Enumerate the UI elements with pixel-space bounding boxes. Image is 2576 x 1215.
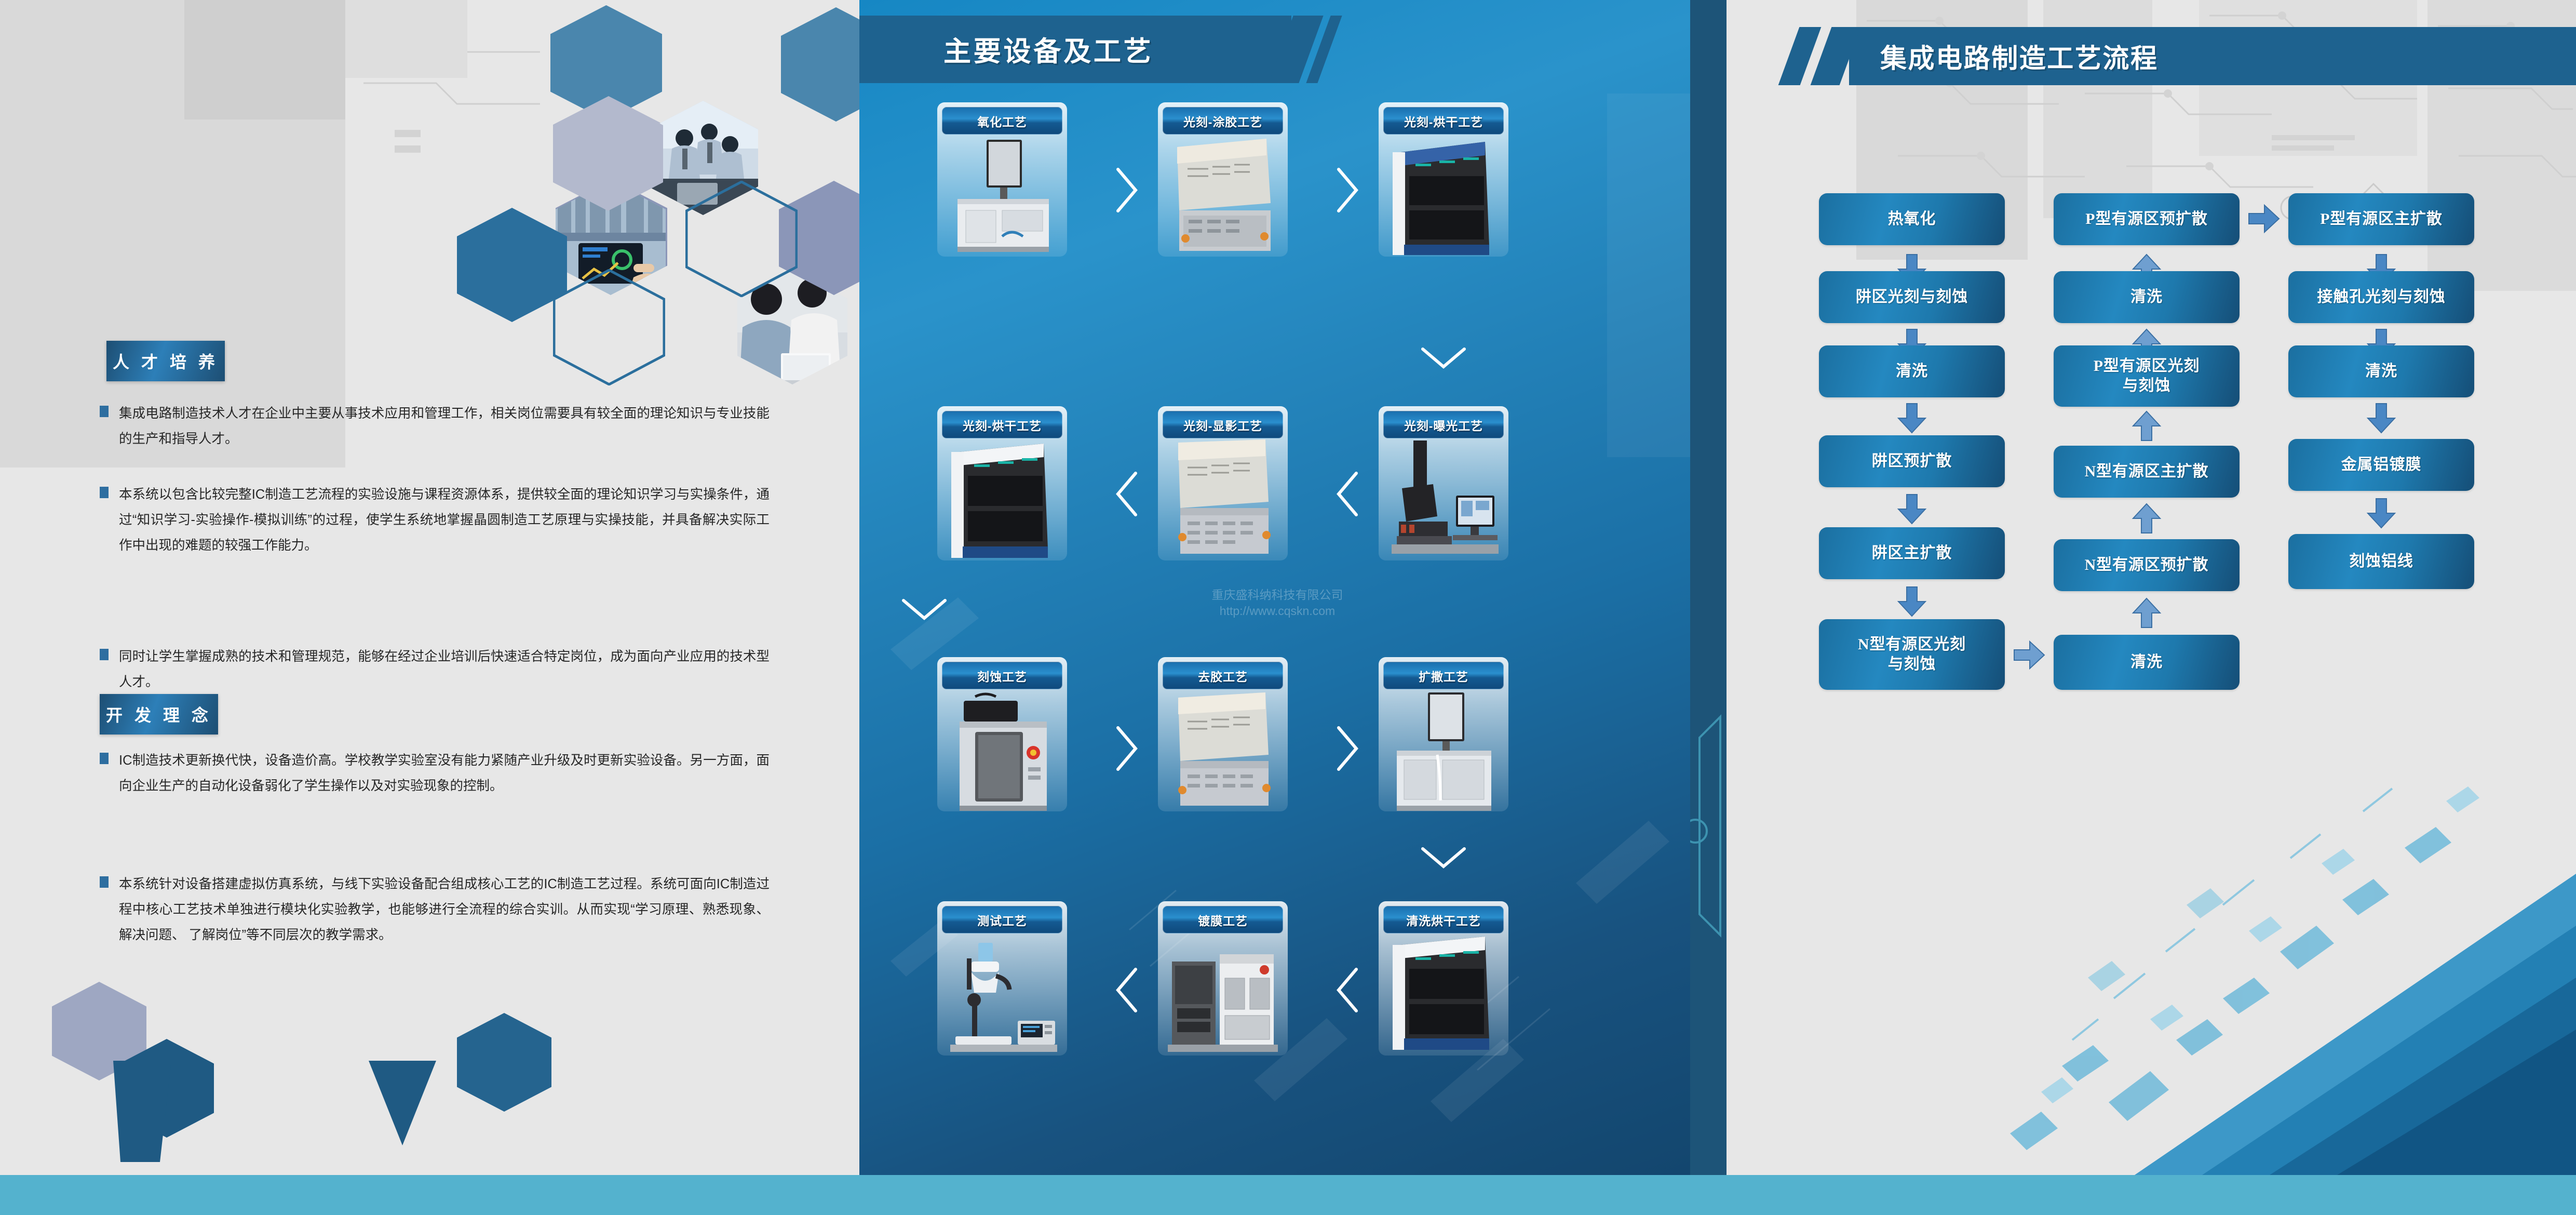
chevron-left-icon	[1115, 470, 1139, 518]
flow-box-label: N型有源区预扩散	[2085, 555, 2209, 575]
talent-paragraph-2: 本系统以包含比较完整IC制造工艺流程的实验设施与课程资源体系，提供较全面的理论知…	[100, 482, 770, 558]
equipment-photo-oxidation-furnace	[942, 135, 1062, 257]
chevron-down-icon	[900, 597, 948, 621]
arrow-down-icon	[2366, 403, 2396, 434]
flow-box-label: P型有源区光刻 与刻蚀	[2094, 356, 2200, 396]
equipment-photo-coater-hood	[1163, 135, 1283, 257]
talent-paragraph-3-text: 同时让学生掌握成熟的技术和管理规范，能够在经过企业培训后快速适合特定岗位，成为面…	[119, 644, 770, 695]
flow-box-label: N型有源区主扩散	[2085, 462, 2209, 482]
equipment-card-coating[interactable]: 光刻-涂胶工艺	[1158, 102, 1288, 257]
arrow-down-icon	[2366, 498, 2396, 529]
equipment-label: 氧化工艺	[942, 107, 1062, 135]
bullet-square-icon	[100, 753, 109, 764]
equipment-label: 去胶工艺	[1163, 662, 1283, 689]
hexagon-bottom-blue	[457, 1013, 551, 1112]
right-panel-title: 集成电路制造工艺流程	[1880, 37, 2159, 75]
equipment-label: 光刻-烘干工艺	[1383, 107, 1504, 135]
arrow-down-icon	[1897, 586, 1927, 617]
flow-box-label: 阱区预扩散	[1872, 451, 1952, 471]
talent-paragraph-1-text: 集成电路制造技术人才在企业中主要从事技术应用和管理工作，相关岗位需要具有较全面的…	[119, 401, 770, 452]
section-label-concept: 开 发 理 念	[100, 694, 218, 735]
concept-paragraph-2: 本系统针对设备搭建虚拟仿真系统，与线下实验设备配合组成核心工艺的IC制造工艺过程…	[100, 872, 770, 948]
chevron-left-icon	[1336, 470, 1359, 518]
equipment-label: 测试工艺	[942, 906, 1062, 933]
equipment-card-strip[interactable]: 去胶工艺	[1158, 657, 1288, 811]
chevron-down-icon	[1420, 846, 1467, 870]
flow-box-label: 刻蚀铝线	[2349, 552, 2413, 571]
equipment-label: 光刻-曝光工艺	[1383, 411, 1504, 438]
flow-box-col3-4[interactable]: 刻蚀铝线	[2288, 534, 2474, 589]
flow-box-col1-0[interactable]: 热氧化	[1819, 193, 2005, 245]
flow-box-label: 接触孔光刻与刻蚀	[2317, 287, 2445, 307]
chevron-left-icon	[1336, 966, 1359, 1014]
talent-paragraph-2-text: 本系统以包含比较完整IC制造工艺流程的实验设施与课程资源体系，提供较全面的理论知…	[119, 482, 770, 558]
equipment-photo-etcher	[942, 689, 1062, 811]
flow-box-col2-2[interactable]: P型有源区光刻 与刻蚀	[2054, 345, 2240, 407]
equipment-card-bake[interactable]: 光刻-烘干工艺	[1379, 102, 1508, 257]
hexagon-outline-1	[685, 181, 798, 297]
equipment-label: 光刻-涂胶工艺	[1163, 107, 1283, 135]
middle-panel-title: 主要设备及工艺	[943, 30, 1153, 69]
flow-box-label: 阱区主扩散	[1872, 543, 1952, 563]
equipment-photo-bake-oven-2	[942, 438, 1062, 560]
watermark-url: http://www.cqskn.com	[1148, 603, 1407, 619]
watermark: 重庆盛科纳科技有限公司 http://www.cqskn.com	[1148, 587, 1407, 619]
bullet-square-icon	[100, 649, 109, 660]
grey-accent-block-b	[184, 0, 345, 119]
chevron-right-icon	[1336, 166, 1359, 214]
flow-box-col2-5[interactable]: 清洗	[2054, 635, 2240, 690]
flow-box-col3-2[interactable]: 清洗	[2288, 345, 2474, 397]
section-label-talent: 人 才 培 养	[106, 341, 225, 381]
middle-panel: 主要设备及工艺 氧化工艺	[859, 0, 1690, 1175]
arrow-up-icon	[2132, 597, 2162, 629]
flow-box-col3-0[interactable]: P型有源区主扩散	[2288, 193, 2474, 245]
flow-box-col2-0[interactable]: P型有源区预扩散	[2054, 193, 2240, 245]
right-panel: 集成电路制造工艺流程	[1690, 0, 2576, 1175]
bullet-square-icon	[100, 876, 109, 888]
flow-box-col1-5[interactable]: N型有源区光刻 与刻蚀	[1819, 619, 2005, 690]
flow-box-col1-4[interactable]: 阱区主扩散	[1819, 527, 2005, 579]
talent-paragraph-3: 同时让学生掌握成熟的技术和管理规范，能够在经过企业培训后快速适合特定岗位，成为面…	[100, 644, 770, 695]
hexagon-outline-3	[748, 0, 859, 116]
flow-box-col3-3[interactable]: 金属铝镀膜	[2288, 439, 2474, 491]
flow-box-col2-4[interactable]: N型有源区预扩散	[2054, 539, 2240, 591]
flow-box-label: N型有源区光刻 与刻蚀	[1858, 635, 1966, 674]
flow-box-col1-3[interactable]: 阱区预扩散	[1819, 435, 2005, 487]
flow-box-label: P型有源区预扩散	[2085, 209, 2208, 229]
grey-accent-block-c	[345, 0, 467, 78]
flow-box-label: 清洗	[2365, 362, 2397, 381]
arrow-down-icon	[1897, 403, 1927, 434]
equipment-card-exposure[interactable]: 光刻-曝光工艺	[1379, 406, 1508, 560]
equipment-photo-sputter-coater	[1163, 933, 1283, 1056]
equipment-card-etch[interactable]: 刻蚀工艺	[937, 657, 1067, 811]
flow-box-label: 热氧化	[1888, 209, 1936, 229]
hexagon-outline-2	[553, 269, 665, 385]
flow-box-label: 金属铝镀膜	[2341, 455, 2422, 475]
bullet-square-icon	[100, 487, 109, 498]
left-panel: 人 才 培 养 集成电路制造技术人才在企业中主要从事技术应用和管理工作，相关岗位…	[0, 0, 859, 1175]
chevron-down-icon	[1420, 346, 1467, 370]
section-label-talent-text: 人 才 培 养	[113, 349, 219, 373]
equipment-label: 光刻-显影工艺	[1163, 411, 1283, 438]
equipment-photo-develop-hood	[1163, 438, 1283, 560]
watermark-company: 重庆盛科纳科技有限公司	[1148, 587, 1407, 603]
concept-paragraph-1: IC制造技术更新换代快，设备造价高。学校教学实验室没有能力紧随产业升级及时更新实…	[100, 748, 770, 799]
flow-box-label: 阱区光刻与刻蚀	[1856, 287, 1968, 307]
bottom-accent-bar	[0, 1175, 2576, 1215]
equipment-card-clean-dry[interactable]: 清洗烘干工艺	[1379, 901, 1508, 1056]
arrow-right-icon	[2013, 640, 2045, 670]
flow-box-label: 清洗	[2130, 652, 2163, 672]
section-label-concept-text: 开 发 理 念	[106, 702, 212, 726]
poster-root: 人 才 培 养 集成电路制造技术人才在企业中主要从事技术应用和管理工作，相关岗位…	[0, 0, 2576, 1215]
flow-box-col2-3[interactable]: N型有源区主扩散	[2054, 446, 2240, 498]
concept-paragraph-1-text: IC制造技术更新换代快，设备造价高。学校教学实验室没有能力紧随产业升级及时更新实…	[119, 748, 770, 799]
flow-box-label: 清洗	[2130, 287, 2163, 307]
equipment-card-develop[interactable]: 光刻-显影工艺	[1158, 406, 1288, 560]
equipment-label: 刻蚀工艺	[942, 662, 1062, 689]
wave-polygon-decoration	[1979, 707, 2576, 1175]
equipment-card-diffusion[interactable]: 扩撒工艺	[1379, 657, 1508, 811]
equipment-card-bake-2[interactable]: 光刻-烘干工艺	[937, 406, 1067, 560]
arrow-up-icon	[2132, 503, 2162, 534]
equipment-photo-mask-aligner	[1383, 438, 1504, 560]
equipment-card-test[interactable]: 测试工艺	[937, 901, 1067, 1056]
equipment-label: 清洗烘干工艺	[1383, 906, 1504, 933]
flow-box-label: P型有源区主扩散	[2320, 209, 2443, 229]
equipment-photo-bake-oven	[1383, 135, 1504, 257]
equipment-card-coating-film[interactable]: 镀膜工艺	[1158, 901, 1288, 1056]
flow-box-col2-1[interactable]: 清洗	[2054, 271, 2240, 323]
concept-paragraph-2-text: 本系统针对设备搭建虚拟仿真系统，与线下实验设备配合组成核心工艺的IC制造工艺过程…	[119, 872, 770, 948]
equipment-card-oxidation[interactable]: 氧化工艺	[937, 102, 1067, 257]
flow-box-col3-1[interactable]: 接触孔光刻与刻蚀	[2288, 271, 2474, 323]
flow-box-col1-1[interactable]: 阱区光刻与刻蚀	[1819, 271, 2005, 323]
equipment-label: 扩撒工艺	[1383, 662, 1504, 689]
equipment-photo-diffusion-furnace	[1383, 689, 1504, 811]
equipment-label: 镀膜工艺	[1163, 906, 1283, 933]
equipment-photo-probe-microscope	[942, 933, 1062, 1056]
right-panel-left-edge-decor	[1690, 0, 1727, 1175]
equipment-photo-stripper-hood	[1163, 689, 1283, 811]
equipment-photo-clean-dry-oven	[1383, 933, 1504, 1056]
flow-box-label: 清洗	[1896, 362, 1928, 381]
right-panel-title-band: 集成电路制造工艺流程	[1849, 27, 2576, 85]
arrow-right-icon	[2248, 204, 2280, 234]
chevron-left-icon	[1115, 966, 1139, 1014]
bullet-square-icon	[100, 406, 109, 417]
arrow-down-icon	[1897, 493, 1927, 525]
arrow-up-icon	[2132, 410, 2162, 442]
chevron-right-icon	[1336, 725, 1359, 772]
chevron-right-icon	[1115, 725, 1139, 772]
chevron-right-icon	[1115, 166, 1139, 214]
talent-paragraph-1: 集成电路制造技术人才在企业中主要从事技术应用和管理工作，相关岗位需要具有较全面的…	[100, 401, 770, 452]
middle-panel-title-band: 主要设备及工艺	[859, 16, 1291, 83]
flow-box-col1-2[interactable]: 清洗	[1819, 345, 2005, 397]
equipment-label: 光刻-烘干工艺	[942, 411, 1062, 438]
